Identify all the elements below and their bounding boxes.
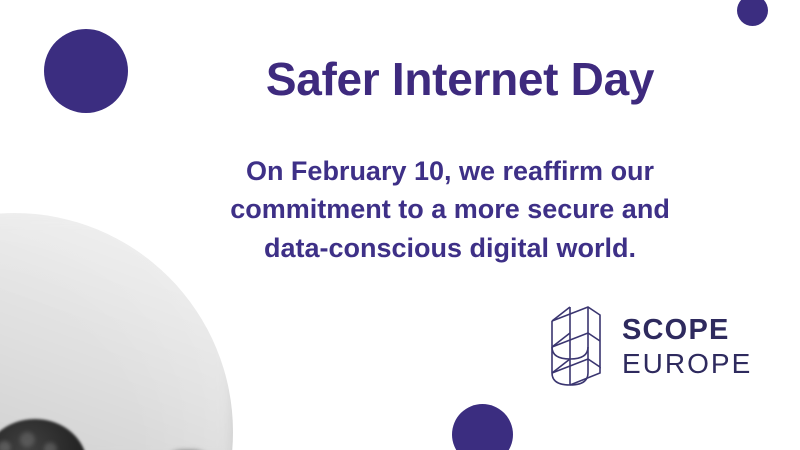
subtitle-text: On February 10, we reaffirm our commitme… <box>150 152 750 267</box>
scope-europe-logo: SCOPE EUROPE <box>548 303 753 391</box>
logo-name-secondary: EUROPE <box>622 350 752 378</box>
subtitle-line-3: data-conscious digital world. <box>150 229 750 267</box>
scope-europe-ribbon-mark <box>548 303 604 391</box>
page-title: Safer Internet Day <box>160 54 760 105</box>
decorative-circle-top-right <box>737 0 768 26</box>
subtitle-line-2: commitment to a more secure and <box>150 190 750 228</box>
decorative-circle-bottom-center <box>452 404 513 450</box>
logo-wordmark: SCOPE EUROPE <box>622 316 752 378</box>
subtitle-line-1: On February 10, we reaffirm our <box>150 152 750 190</box>
logo-name-primary: SCOPE <box>622 316 752 345</box>
decorative-circle-top-left <box>44 29 128 113</box>
safer-internet-day-banner: Safer Internet Day On February 10, we re… <box>0 0 800 450</box>
